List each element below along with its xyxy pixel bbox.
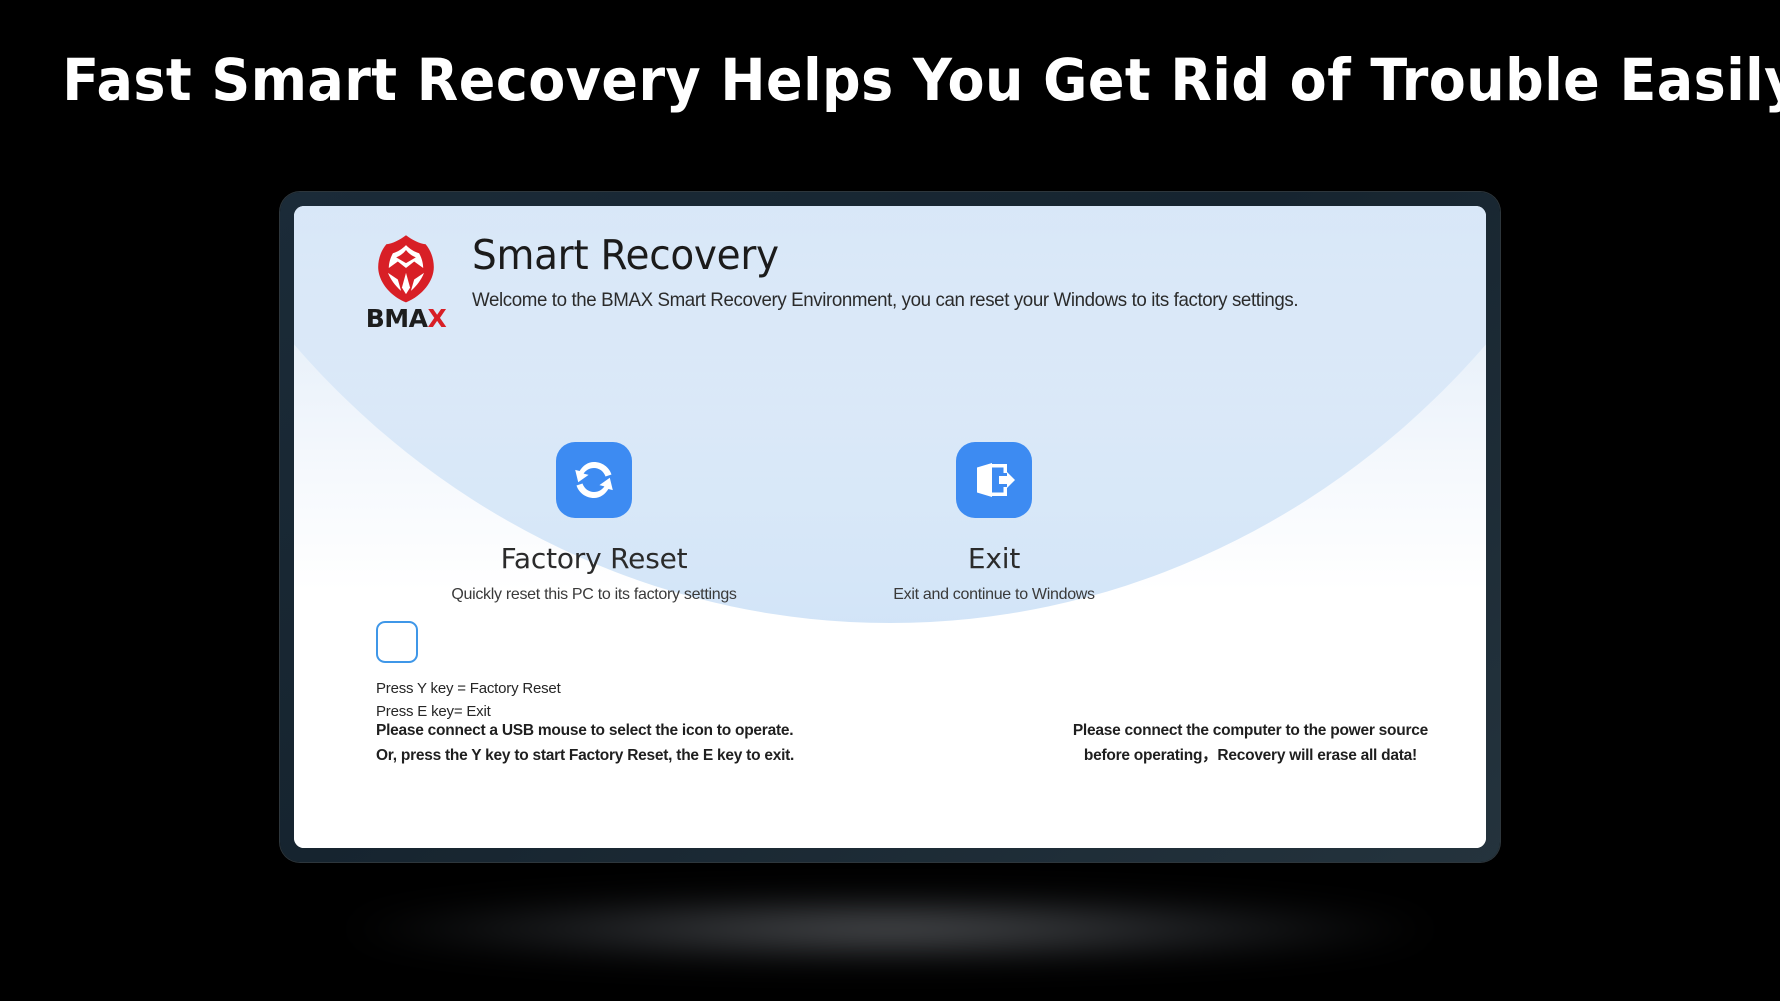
factory-reset-title: Factory Reset <box>414 542 774 575</box>
header-text: Smart Recovery Welcome to the BMAX Smart… <box>472 228 1333 312</box>
app-title: Smart Recovery <box>472 234 1290 277</box>
exit-title: Exit <box>814 542 1174 575</box>
bmax-fox-head-logo-icon <box>364 232 448 304</box>
keyboard-hint-block: Press Y key = Factory Reset Press E key=… <box>376 621 561 724</box>
app-header: BMAX Smart Recovery Welcome to the BMAX … <box>354 228 1333 331</box>
exit-door-arrow-icon[interactable] <box>956 442 1032 518</box>
footer-right-line-1: Please connect the computer to the power… <box>1073 718 1428 743</box>
device-reflection-glow <box>345 895 1435 963</box>
brand-wordmark-accent: X <box>428 304 447 333</box>
brand-logo: BMAX <box>354 228 458 331</box>
refresh-sync-icon-glyph <box>569 455 619 505</box>
exit-tile[interactable]: Exit Exit and continue to Windows <box>814 442 1174 604</box>
factory-reset-tile[interactable]: Factory Reset Quickly reset this PC to i… <box>414 442 774 604</box>
exit-door-arrow-icon-glyph <box>969 455 1019 505</box>
footer-left-line-2: Or, press the Y key to start Factory Res… <box>376 743 794 768</box>
exit-description: Exit and continue to Windows <box>814 586 1174 604</box>
footer-left-line-1: Please connect a USB mouse to select the… <box>376 718 794 743</box>
brand-wordmark: BMAX <box>366 306 447 331</box>
footer-note-right: Please connect the computer to the power… <box>1073 718 1428 768</box>
key-hint-factory-reset: Press Y key = Factory Reset <box>376 677 561 700</box>
device-frame: BMAX Smart Recovery Welcome to the BMAX … <box>280 192 1500 862</box>
footer-note-left: Please connect a USB mouse to select the… <box>376 718 794 768</box>
page-headline: Fast Smart Recovery Helps You Get Rid of… <box>62 46 1717 114</box>
refresh-sync-icon[interactable] <box>556 442 632 518</box>
action-tiles: Factory Reset Quickly reset this PC to i… <box>414 442 1394 604</box>
recovery-app: BMAX Smart Recovery Welcome to the BMAX … <box>294 206 1486 848</box>
footer-right-line-2: before operating，Recovery will erase all… <box>1073 743 1428 768</box>
factory-reset-description: Quickly reset this PC to its factory set… <box>414 586 774 604</box>
brand-wordmark-main: BMA <box>366 304 428 333</box>
focus-selection-box[interactable] <box>376 621 418 663</box>
device-screen: BMAX Smart Recovery Welcome to the BMAX … <box>294 206 1486 848</box>
key-hint-lines: Press Y key = Factory Reset Press E key=… <box>376 677 561 724</box>
app-subtitle: Welcome to the BMAX Smart Recovery Envir… <box>472 289 1298 312</box>
